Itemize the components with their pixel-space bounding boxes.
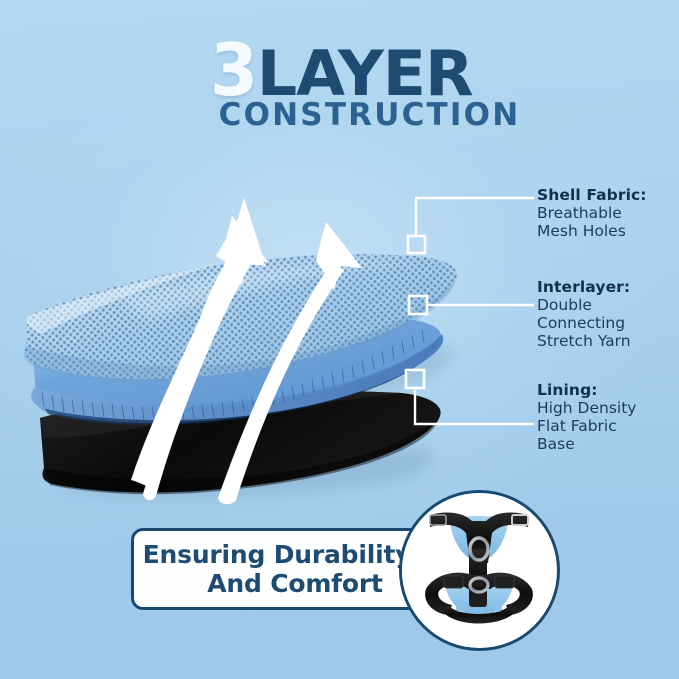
tagline-text: Ensuring Durability And Comfort xyxy=(131,528,423,610)
title-main-row: 3 LAYER xyxy=(209,34,471,106)
title-word: LAYER xyxy=(257,43,473,105)
layer-illustration xyxy=(0,150,500,510)
infographic-root: 3 LAYER CONSTRUCTION xyxy=(0,0,679,679)
tagline-line-2: And Comfort xyxy=(171,569,382,599)
product-photo xyxy=(399,490,560,651)
page-title: 3 LAYER CONSTRUCTION xyxy=(0,34,679,131)
tagline-line-1: Ensuring Durability xyxy=(143,540,412,570)
title-number: 3 xyxy=(210,34,256,106)
